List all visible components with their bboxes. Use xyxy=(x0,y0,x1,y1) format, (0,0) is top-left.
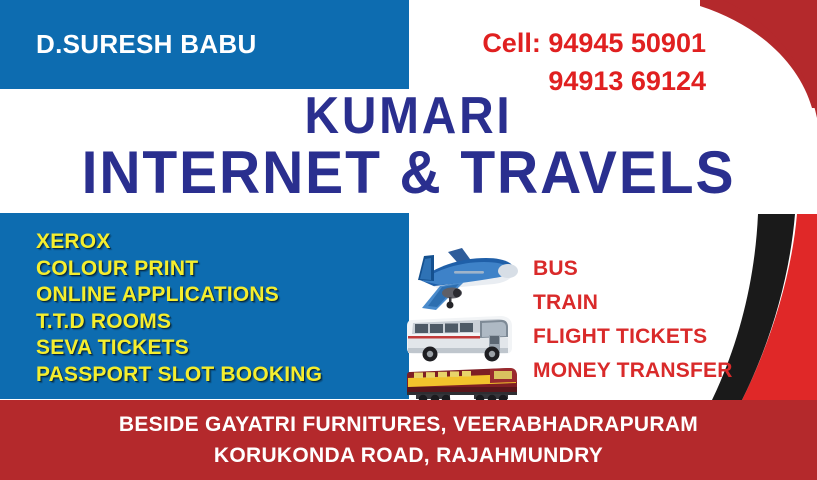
address-bar: BESIDE GAYATRI FURNITURES, VEERABHADRAPU… xyxy=(0,400,817,480)
business-card: D.SURESH BABU Cell: 94945 50901 94913 69… xyxy=(0,0,817,480)
service-item: XEROX xyxy=(36,229,396,256)
service-item: ONLINE APPLICATIONS xyxy=(36,282,396,309)
service-item: T.T.D ROOMS xyxy=(36,309,396,336)
service-item: FLIGHT TICKETS xyxy=(533,320,793,354)
services-list-left: XEROX COLOUR PRINT ONLINE APPLICATIONS T… xyxy=(36,229,396,388)
airplane-icon xyxy=(418,248,518,310)
address-line-1: BESIDE GAYATRI FURNITURES, VEERABHADRAPU… xyxy=(0,400,817,440)
service-item: COLOUR PRINT xyxy=(36,256,396,283)
business-title-line-2: INTERNET & TRAVELS xyxy=(20,138,796,207)
owner-name: D.SURESH BABU xyxy=(36,29,257,60)
services-list-right: BUS TRAIN FLIGHT TICKETS MONEY TRANSFER xyxy=(533,252,793,388)
business-title-line-1: KUMARI xyxy=(33,86,785,146)
train-icon xyxy=(404,368,532,400)
service-item: SEVA TICKETS xyxy=(36,335,396,362)
business-title: KUMARI INTERNET & TRAVELS xyxy=(0,90,817,213)
service-item: TRAIN xyxy=(533,286,793,320)
bus-icon xyxy=(407,316,512,362)
service-item: PASSPORT SLOT BOOKING xyxy=(36,362,396,389)
transport-artwork xyxy=(404,236,532,400)
service-item: BUS xyxy=(533,252,793,286)
cell-number-1[interactable]: Cell: 94945 50901 xyxy=(482,28,706,58)
address-line-2: KORUKONDA ROAD, RAJAHMUNDRY xyxy=(0,440,817,471)
service-item: MONEY TRANSFER xyxy=(533,354,793,388)
